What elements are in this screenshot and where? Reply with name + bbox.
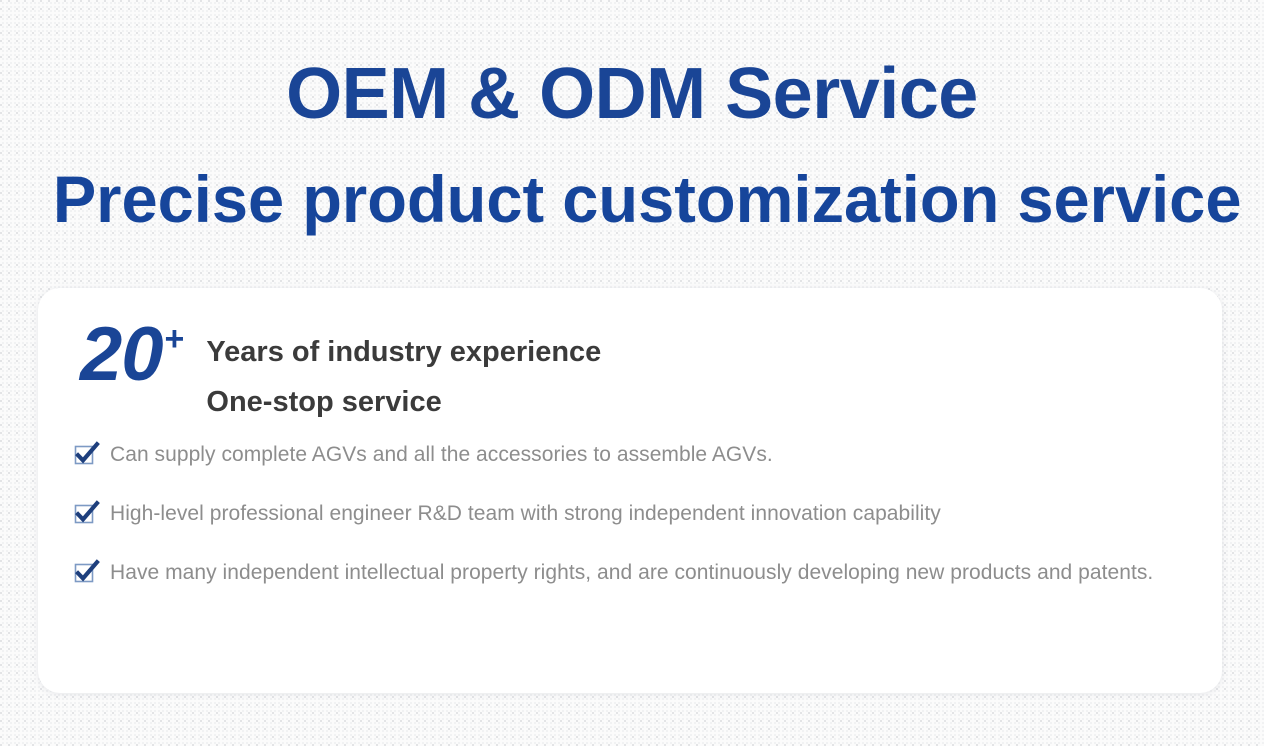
stat-number: 20	[80, 320, 163, 390]
promo-banner: OEM & ODM Service Precise product custom…	[0, 0, 1264, 746]
checkbox-checked-icon	[74, 559, 100, 585]
stat-row: 20 + Years of industry experience One-st…	[80, 320, 601, 428]
checkbox-checked-icon	[74, 500, 100, 526]
stat-caption-line-2: One-stop service	[206, 378, 601, 428]
heading-block: OEM & ODM Service	[0, 58, 1264, 130]
list-item-text: Can supply complete AGVs and all the acc…	[110, 438, 773, 472]
page-title: OEM & ODM Service	[0, 58, 1264, 130]
list-item-text: Have many independent intellectual prope…	[110, 556, 1153, 590]
list-item: High-level professional engineer R&D tea…	[74, 497, 1192, 531]
page-subtitle: Precise product customization service	[53, 166, 1211, 232]
stat-caption: Years of industry experience One-stop se…	[206, 328, 601, 428]
list-item: Can supply complete AGVs and all the acc…	[74, 438, 1192, 472]
highlights-card: 20 + Years of industry experience One-st…	[38, 288, 1222, 693]
feature-list: Can supply complete AGVs and all the acc…	[74, 438, 1192, 590]
stat-caption-line-1: Years of industry experience	[206, 328, 601, 378]
stat-number-group: 20 +	[80, 320, 184, 390]
list-item: Have many independent intellectual prope…	[74, 556, 1192, 590]
checkbox-checked-icon	[74, 441, 100, 467]
stat-plus-suffix: +	[165, 322, 185, 356]
list-item-text: High-level professional engineer R&D tea…	[110, 497, 941, 531]
